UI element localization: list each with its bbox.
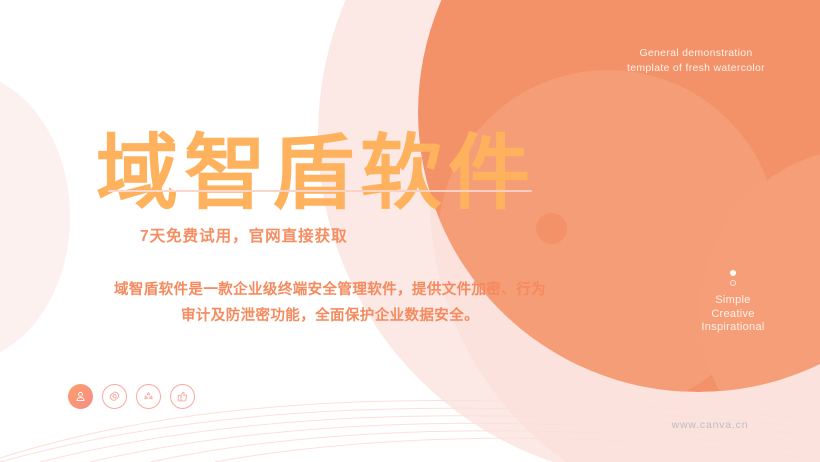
gear-icon [108, 390, 121, 403]
gear-icon-button[interactable] [102, 384, 127, 409]
slide-content: General demonstration template of fresh … [0, 0, 820, 462]
tagline-dots [678, 270, 788, 286]
feature-icon-row [68, 384, 195, 409]
recycle-icon-button[interactable] [136, 384, 161, 409]
recycle-icon [142, 390, 155, 403]
page-title: 域智盾软件 [96, 133, 536, 215]
thumbs-up-icon [176, 390, 189, 403]
thumbs-up-icon-button[interactable] [170, 384, 195, 409]
dot-filled-icon [730, 270, 736, 276]
tagline-words: Simple Creative Inspirational [678, 294, 788, 335]
user-icon [74, 390, 87, 403]
body-description: 域智盾软件是一款企业级终端安全管理软件，提供文件加密、行为审计及防泄密功能，全面… [108, 277, 552, 329]
user-icon-button[interactable] [68, 384, 93, 409]
right-tagline-block: Simple Creative Inspirational [678, 270, 788, 335]
presentation-slide: General demonstration template of fresh … [0, 0, 820, 462]
dot-hollow-icon [730, 280, 736, 286]
title-divider [108, 190, 532, 192]
subtitle-text: 7天免费试用，官网直接获取 [140, 224, 348, 246]
eyebrow-text: General demonstration template of fresh … [596, 46, 796, 76]
footer-url: www.canva.cn [620, 419, 800, 431]
